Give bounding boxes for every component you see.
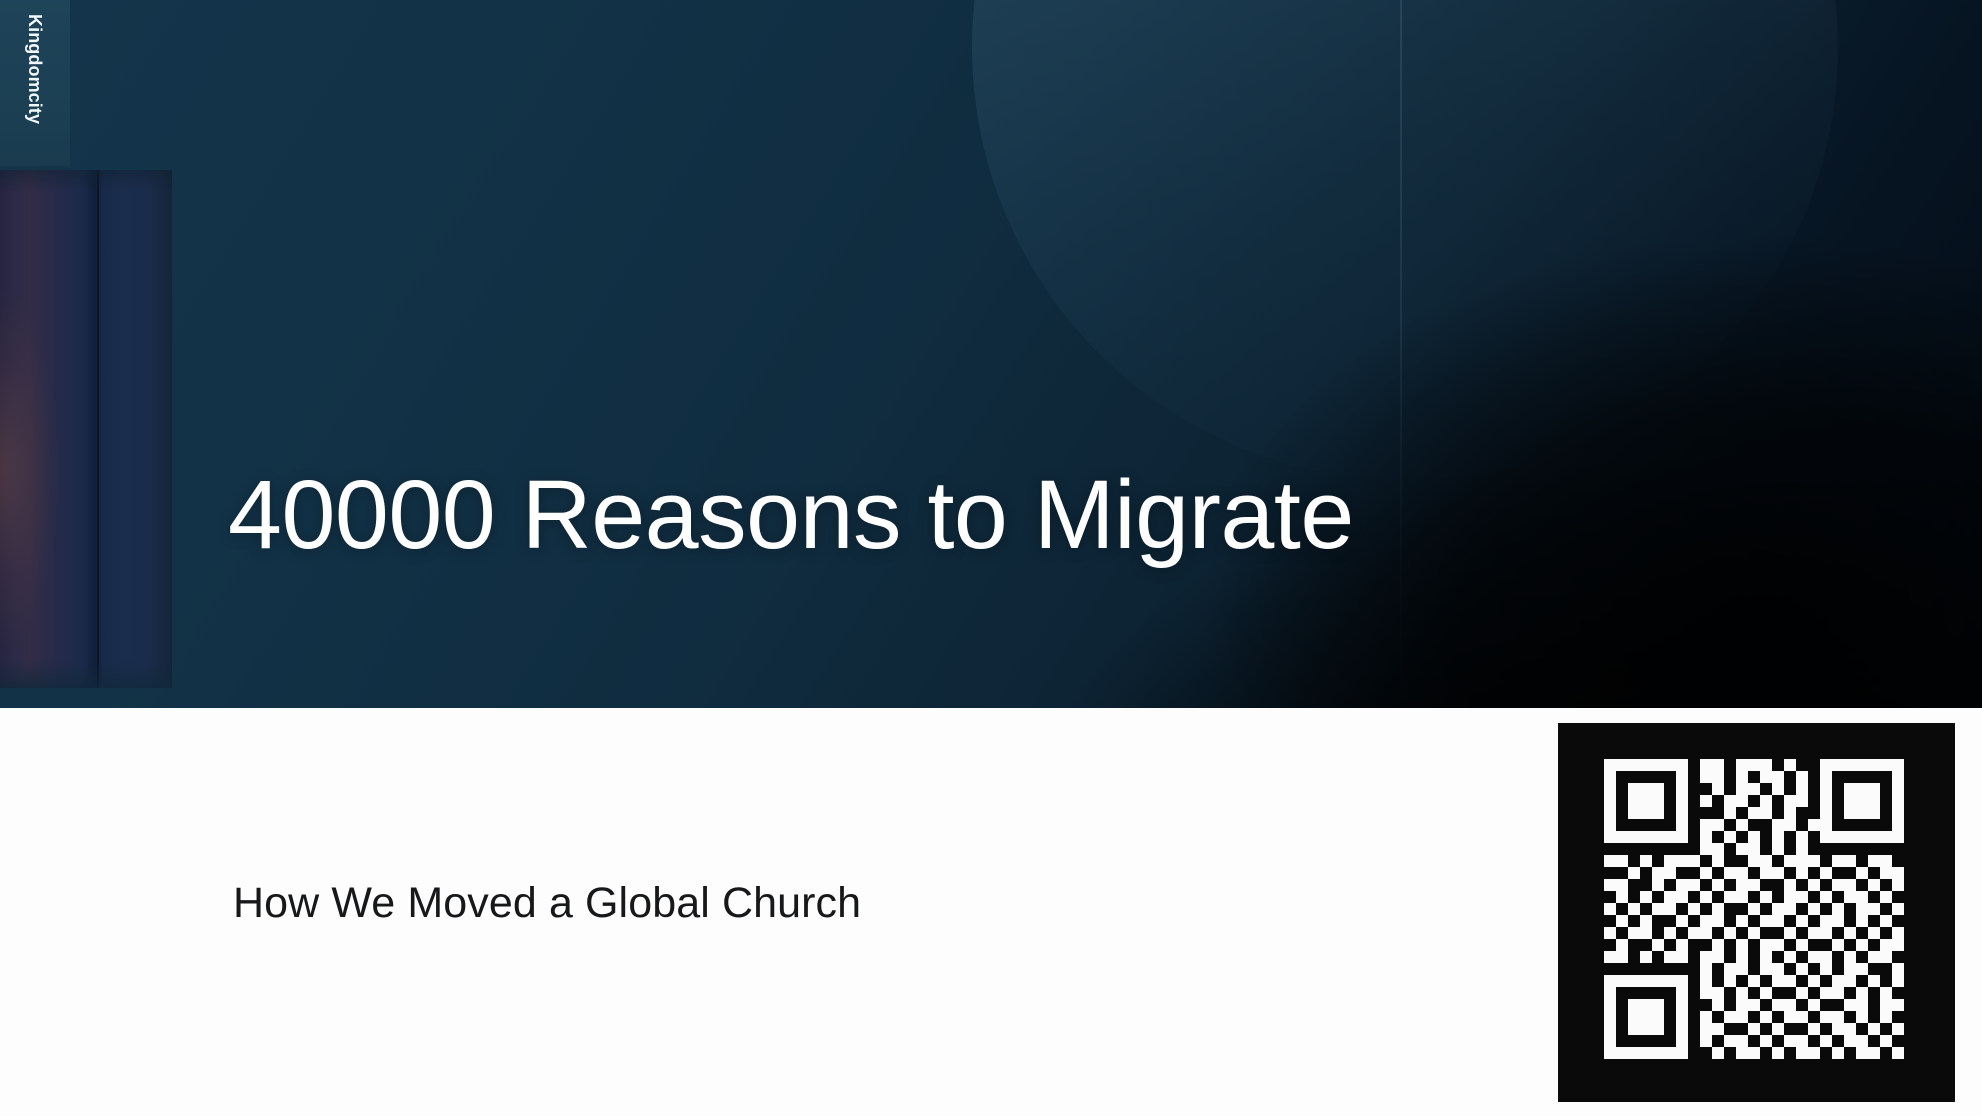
qr-code[interactable] [1604, 759, 1904, 1059]
slide-hero-background: Kingdomcity 40000 Reasons to Migrate [0, 0, 1982, 708]
decorative-vignette [982, 148, 1982, 708]
slide-title: 40000 Reasons to Migrate [228, 466, 1354, 563]
brand-name-label: Kingdomcity [26, 14, 44, 124]
slide-subtitle: How We Moved a Global Church [233, 880, 861, 927]
decorative-left-strip-warm-glow [0, 170, 70, 688]
decorative-left-strip-bottom-fade [0, 660, 172, 688]
qr-code-card[interactable] [1558, 723, 1955, 1102]
decorative-left-strip-seam [97, 170, 99, 688]
brand-tab: Kingdomcity [0, 0, 70, 166]
presentation-slide: Kingdomcity 40000 Reasons to Migrate How… [0, 0, 1982, 1116]
decorative-left-strip-top-fade [0, 170, 172, 192]
